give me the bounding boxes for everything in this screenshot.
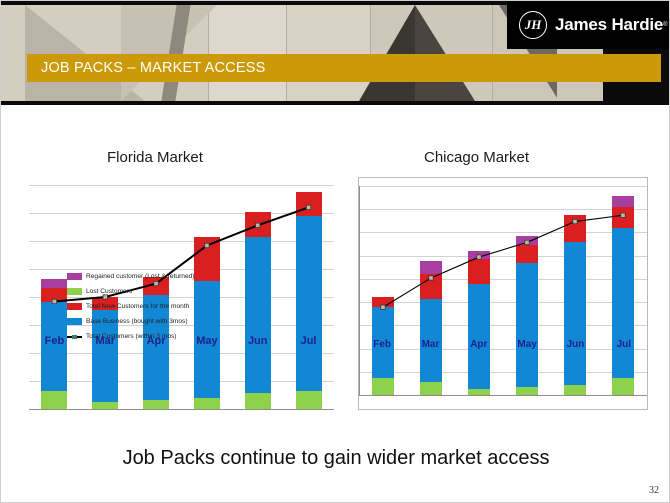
chicago-month-axis: FebMarAprMayJunJul — [358, 339, 648, 350]
jh-monogram-icon: JH — [519, 11, 547, 39]
florida-market-chart: Regained customer (Lost & returned)Lost … — [29, 183, 334, 409]
florida-month-axis: FebMarAprMayJunJul — [29, 335, 334, 347]
line-data-marker — [525, 240, 529, 244]
legend-swatch-icon — [67, 318, 82, 325]
slide-title-banner: JOB PACKS – MARKET ACCESS — [27, 54, 661, 82]
legend-swatch-icon — [67, 288, 82, 295]
legend-label: Regained customer (Lost & returned) — [86, 273, 195, 280]
month-label: Mar — [406, 339, 454, 350]
month-label: Jun — [551, 339, 599, 350]
month-label: Apr — [131, 335, 182, 347]
line-data-marker — [256, 223, 260, 227]
photo-wedge — [359, 5, 415, 101]
line-data-marker — [205, 243, 209, 247]
slide-title: JOB PACKS – MARKET ACCESS — [27, 60, 265, 76]
legend-label: Total New Customers for the month — [86, 303, 189, 310]
page-number: 32 — [649, 485, 659, 496]
chicago-market-chart — [358, 177, 648, 410]
james-hardie-logo: JH James Hardie ® — [507, 1, 670, 49]
slide: JH James Hardie ® JOB PACKS – MARKET ACC… — [0, 0, 670, 503]
line-data-marker — [477, 255, 481, 259]
registered-trademark-icon: ® — [663, 22, 667, 28]
legend-swatch-icon — [67, 303, 82, 310]
legend-item: Lost Customers — [67, 284, 257, 299]
legend-item: Base Business (bought with 3mos) — [67, 314, 257, 329]
month-label: Mar — [80, 335, 131, 347]
month-label: Jul — [283, 335, 334, 347]
month-label: Feb — [358, 339, 406, 350]
legend-item: Total New Customers for the month — [67, 299, 257, 314]
logo-wordmark: James Hardie — [555, 15, 663, 35]
florida-chart-title: Florida Market — [107, 149, 203, 166]
florida-chart-legend: Regained customer (Lost & returned)Lost … — [67, 269, 257, 344]
total-customers-line — [383, 215, 623, 307]
x-axis — [29, 409, 334, 410]
line-data-marker — [429, 276, 433, 280]
photo-wedge — [415, 5, 475, 101]
month-label: Jun — [232, 335, 283, 347]
legend-label: Lost Customers — [86, 288, 132, 295]
month-label: May — [503, 339, 551, 350]
month-label: Apr — [455, 339, 503, 350]
legend-label: Base Business (bought with 3mos) — [86, 318, 188, 325]
month-label: May — [181, 335, 232, 347]
slide-caption: Job Packs continue to gain wider market … — [1, 447, 670, 470]
line-data-marker — [381, 305, 385, 309]
chicago-chart-title: Chicago Market — [424, 149, 529, 166]
legend-item: Regained customer (Lost & returned) — [67, 269, 257, 284]
line-data-marker — [573, 219, 577, 223]
slide-body: Florida Market Chicago Market Regained c… — [1, 105, 670, 503]
slide-header: JH James Hardie ® JOB PACKS – MARKET ACC… — [1, 1, 670, 105]
line-data-marker — [52, 299, 56, 303]
month-label: Feb — [29, 335, 80, 347]
line-data-marker — [306, 205, 310, 209]
legend-swatch-icon — [67, 273, 82, 280]
photo-panel — [209, 5, 287, 101]
chicago-total-customers-line — [359, 178, 647, 409]
line-data-marker — [621, 213, 625, 217]
month-label: Jul — [600, 339, 648, 350]
